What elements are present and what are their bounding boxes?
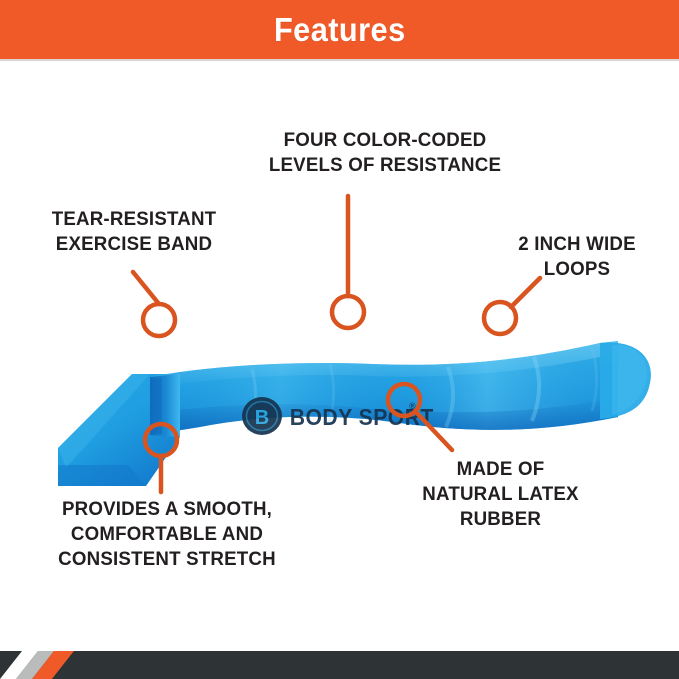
- callout-label-line: FOUR COLOR-CODED: [260, 128, 510, 153]
- callout-label-tear-resistant-exercise-band: TEAR-RESISTANT EXERCISE BAND: [19, 207, 249, 257]
- callout-label-provides-a-smooth-comfortable-and-consistent-stretch: PROVIDES A SMOOTH, COMFORTABLE AND CONSI…: [28, 497, 306, 572]
- callout-label-line: TEAR-RESISTANT: [19, 207, 249, 232]
- infographic-page: Features: [0, 0, 679, 679]
- footer-stripe-graphic: [0, 651, 679, 679]
- svg-text:®: ®: [409, 401, 416, 411]
- svg-text:B: B: [255, 407, 269, 429]
- footer-bar: [0, 651, 679, 679]
- callout-label-line: NATURAL LATEX: [393, 482, 609, 507]
- callout-label-line: LOOPS: [491, 257, 664, 282]
- callout-label-line: RUBBER: [393, 507, 609, 532]
- callout-label-line: LEVELS OF RESISTANCE: [260, 153, 510, 178]
- callout-label-line: 2 INCH WIDE: [491, 232, 664, 257]
- callout-label-line: COMFORTABLE AND: [28, 522, 306, 547]
- header-bar: Features: [0, 0, 679, 59]
- callout-label-line: EXERCISE BAND: [19, 232, 249, 257]
- callout-label-line: MADE OF: [393, 457, 609, 482]
- page-title: Features: [274, 13, 406, 46]
- callout-label-four-color-coded-levels-of-resistance: FOUR COLOR-CODED LEVELS OF RESISTANCE: [260, 128, 510, 178]
- callout-label-line: PROVIDES A SMOOTH,: [28, 497, 306, 522]
- callout-label-made-of-natural-latex-rubber: MADE OF NATURAL LATEX RUBBER: [393, 457, 609, 532]
- callout-label-two-inch-wide-loops: 2 INCH WIDE LOOPS: [491, 232, 664, 282]
- callout-label-line: CONSISTENT STRETCH: [28, 547, 306, 572]
